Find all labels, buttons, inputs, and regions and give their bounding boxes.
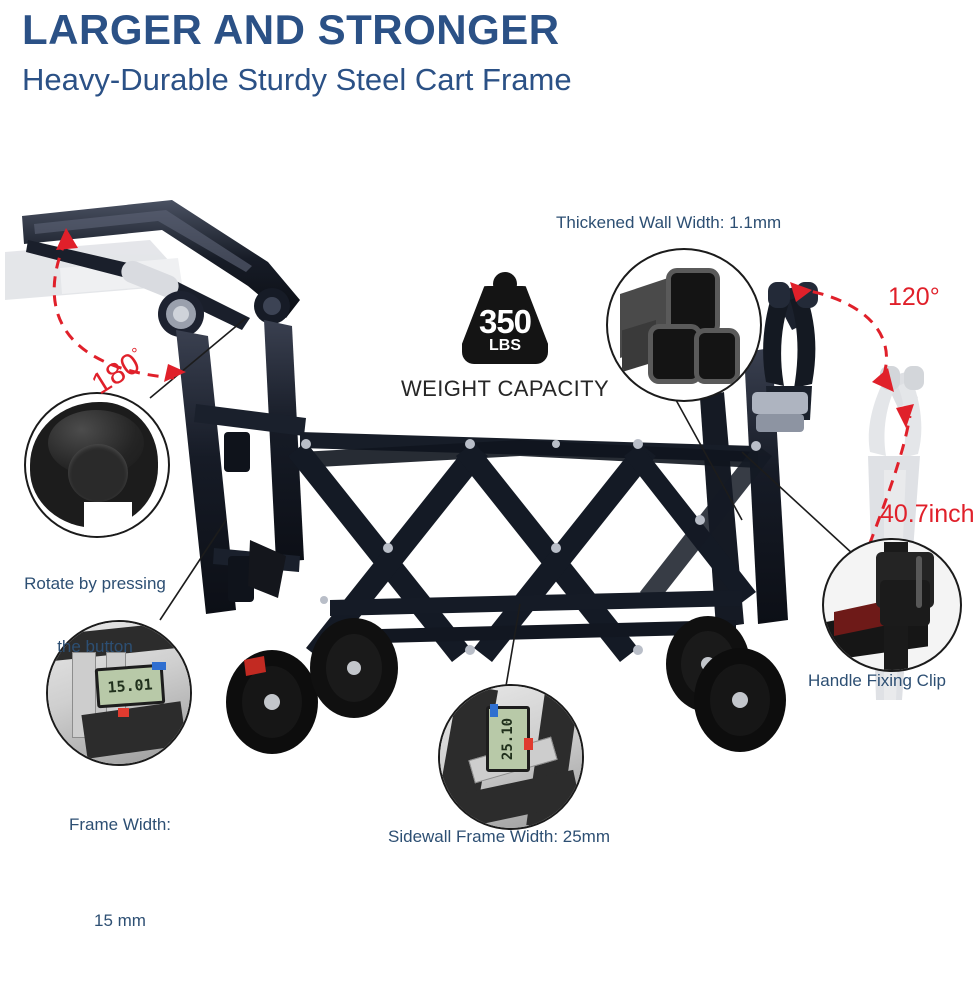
- wheel-rear-left: [666, 616, 750, 712]
- rotate-button-label-line1: Rotate by pressing: [0, 573, 190, 594]
- wheel-front-left: [226, 650, 318, 754]
- weight-value: 350: [462, 305, 548, 338]
- secondary-pivot-joint: [254, 288, 290, 324]
- sidewall-width-caliper-photo: 25.10: [438, 684, 584, 830]
- rotate-button-label: Rotate by pressing the button: [0, 530, 190, 700]
- rotate-button-photo: [24, 392, 170, 538]
- handle-pivot-joint: [158, 291, 204, 337]
- page-title: LARGER AND STRONGER: [22, 6, 560, 54]
- main-handle: [22, 200, 300, 330]
- wheel-rear-right: [694, 648, 786, 752]
- scissor-lattice-frame: [288, 432, 772, 662]
- red-accent: [244, 656, 266, 676]
- frame-width-label-line2: 15 mm: [20, 905, 220, 937]
- handle-length-annotation: 40.7inch: [880, 500, 975, 529]
- handle-fixing-clip-label: Handle Fixing Clip: [808, 670, 946, 691]
- rear-handle-raised: [752, 282, 818, 432]
- page-subtitle: Heavy-Durable Sturdy Steel Cart Frame: [22, 62, 572, 98]
- frame-width-label: Frame Width: 15 mm: [20, 744, 220, 1002]
- front-upright-frame: [176, 320, 307, 614]
- wheel-front-right: [310, 618, 398, 718]
- sidewall-frame-width-label: Sidewall Frame Width: 25mm: [388, 826, 610, 847]
- weight-capacity-icon: 350 LBS: [462, 272, 548, 364]
- steel-tube-cross-section-photo: [606, 248, 762, 402]
- weight-capacity-caption: WEIGHT CAPACITY: [398, 376, 612, 402]
- ghost-handle-left: [5, 240, 182, 300]
- rotate-button-label-line2: the button: [0, 636, 190, 657]
- handle-fixing-clip-photo: [822, 538, 962, 672]
- thickened-wall-width-label: Thickened Wall Width: 1.1mm: [556, 212, 781, 233]
- caliper-reading: 25.10: [500, 718, 516, 760]
- arc-120: [794, 288, 887, 380]
- infographic-canvas: LARGER AND STRONGER Heavy-Durable Sturdy…: [0, 0, 977, 858]
- leader-lines: [150, 318, 866, 686]
- rear-handle-angle-annotation: 120°: [888, 283, 940, 312]
- weight-unit: LBS: [462, 338, 548, 354]
- frame-width-label-line1: Frame Width:: [20, 809, 220, 841]
